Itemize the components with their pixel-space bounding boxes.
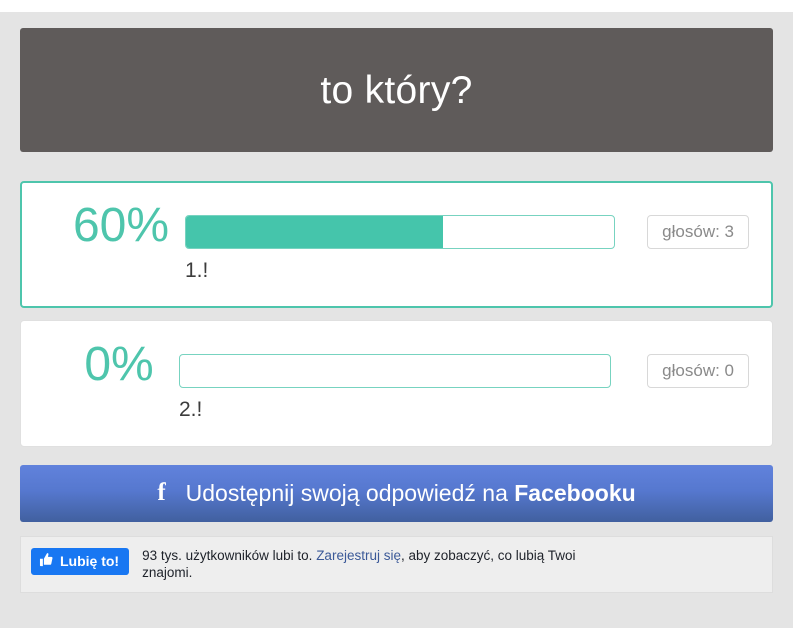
option-1-percent: 60% — [50, 201, 192, 251]
option-1-label: 1.! — [185, 260, 615, 281]
facebook-like-button[interactable]: Lubię to! — [31, 548, 129, 575]
option-1-bar-wrap: 1.! — [185, 215, 615, 281]
share-on-facebook-button[interactable]: f Udostępnij swoją odpowiedź na Facebook… — [20, 465, 773, 522]
option-2-votes-badge: głosów: 0 — [647, 354, 749, 388]
like-text-before: 93 tys. użytkowników lubi to. — [142, 548, 316, 563]
option-1-votes-badge: głosów: 3 — [647, 215, 749, 249]
poll-container: to który? 60% 1.! głosów: 3 0% 2.! głosó… — [20, 28, 773, 593]
facebook-like-button-label: Lubię to! — [60, 554, 119, 568]
share-label-prefix: Udostępnij swoją odpowiedź na — [186, 480, 515, 506]
poll-option-1[interactable]: 60% 1.! głosów: 3 — [20, 181, 773, 308]
facebook-like-social-text: 93 tys. użytkowników lubi to. Zarejestru… — [142, 547, 612, 581]
option-1-progress-track — [185, 215, 615, 249]
option-1-progress-fill — [186, 216, 443, 248]
share-label-bold: Facebooku — [514, 480, 635, 506]
option-2-progress-track — [179, 354, 611, 388]
facebook-f-icon: f — [157, 480, 165, 505]
thumbs-up-icon — [39, 553, 54, 569]
page-title: to który? — [320, 71, 472, 110]
poll-header: to który? — [20, 28, 773, 152]
facebook-signup-link[interactable]: Zarejestruj się — [316, 548, 401, 563]
page-background: to który? 60% 1.! głosów: 3 0% 2.! głosó… — [0, 12, 793, 628]
option-2-bar-wrap: 2.! — [179, 354, 611, 420]
share-button-label: Udostępnij swoją odpowiedź na Facebooku — [186, 482, 636, 505]
facebook-like-widget: Lubię to! 93 tys. użytkowników lubi to. … — [20, 536, 773, 593]
option-2-label: 2.! — [179, 399, 611, 420]
option-2-percent: 0% — [48, 340, 190, 390]
poll-option-2[interactable]: 0% 2.! głosów: 0 — [20, 320, 773, 447]
